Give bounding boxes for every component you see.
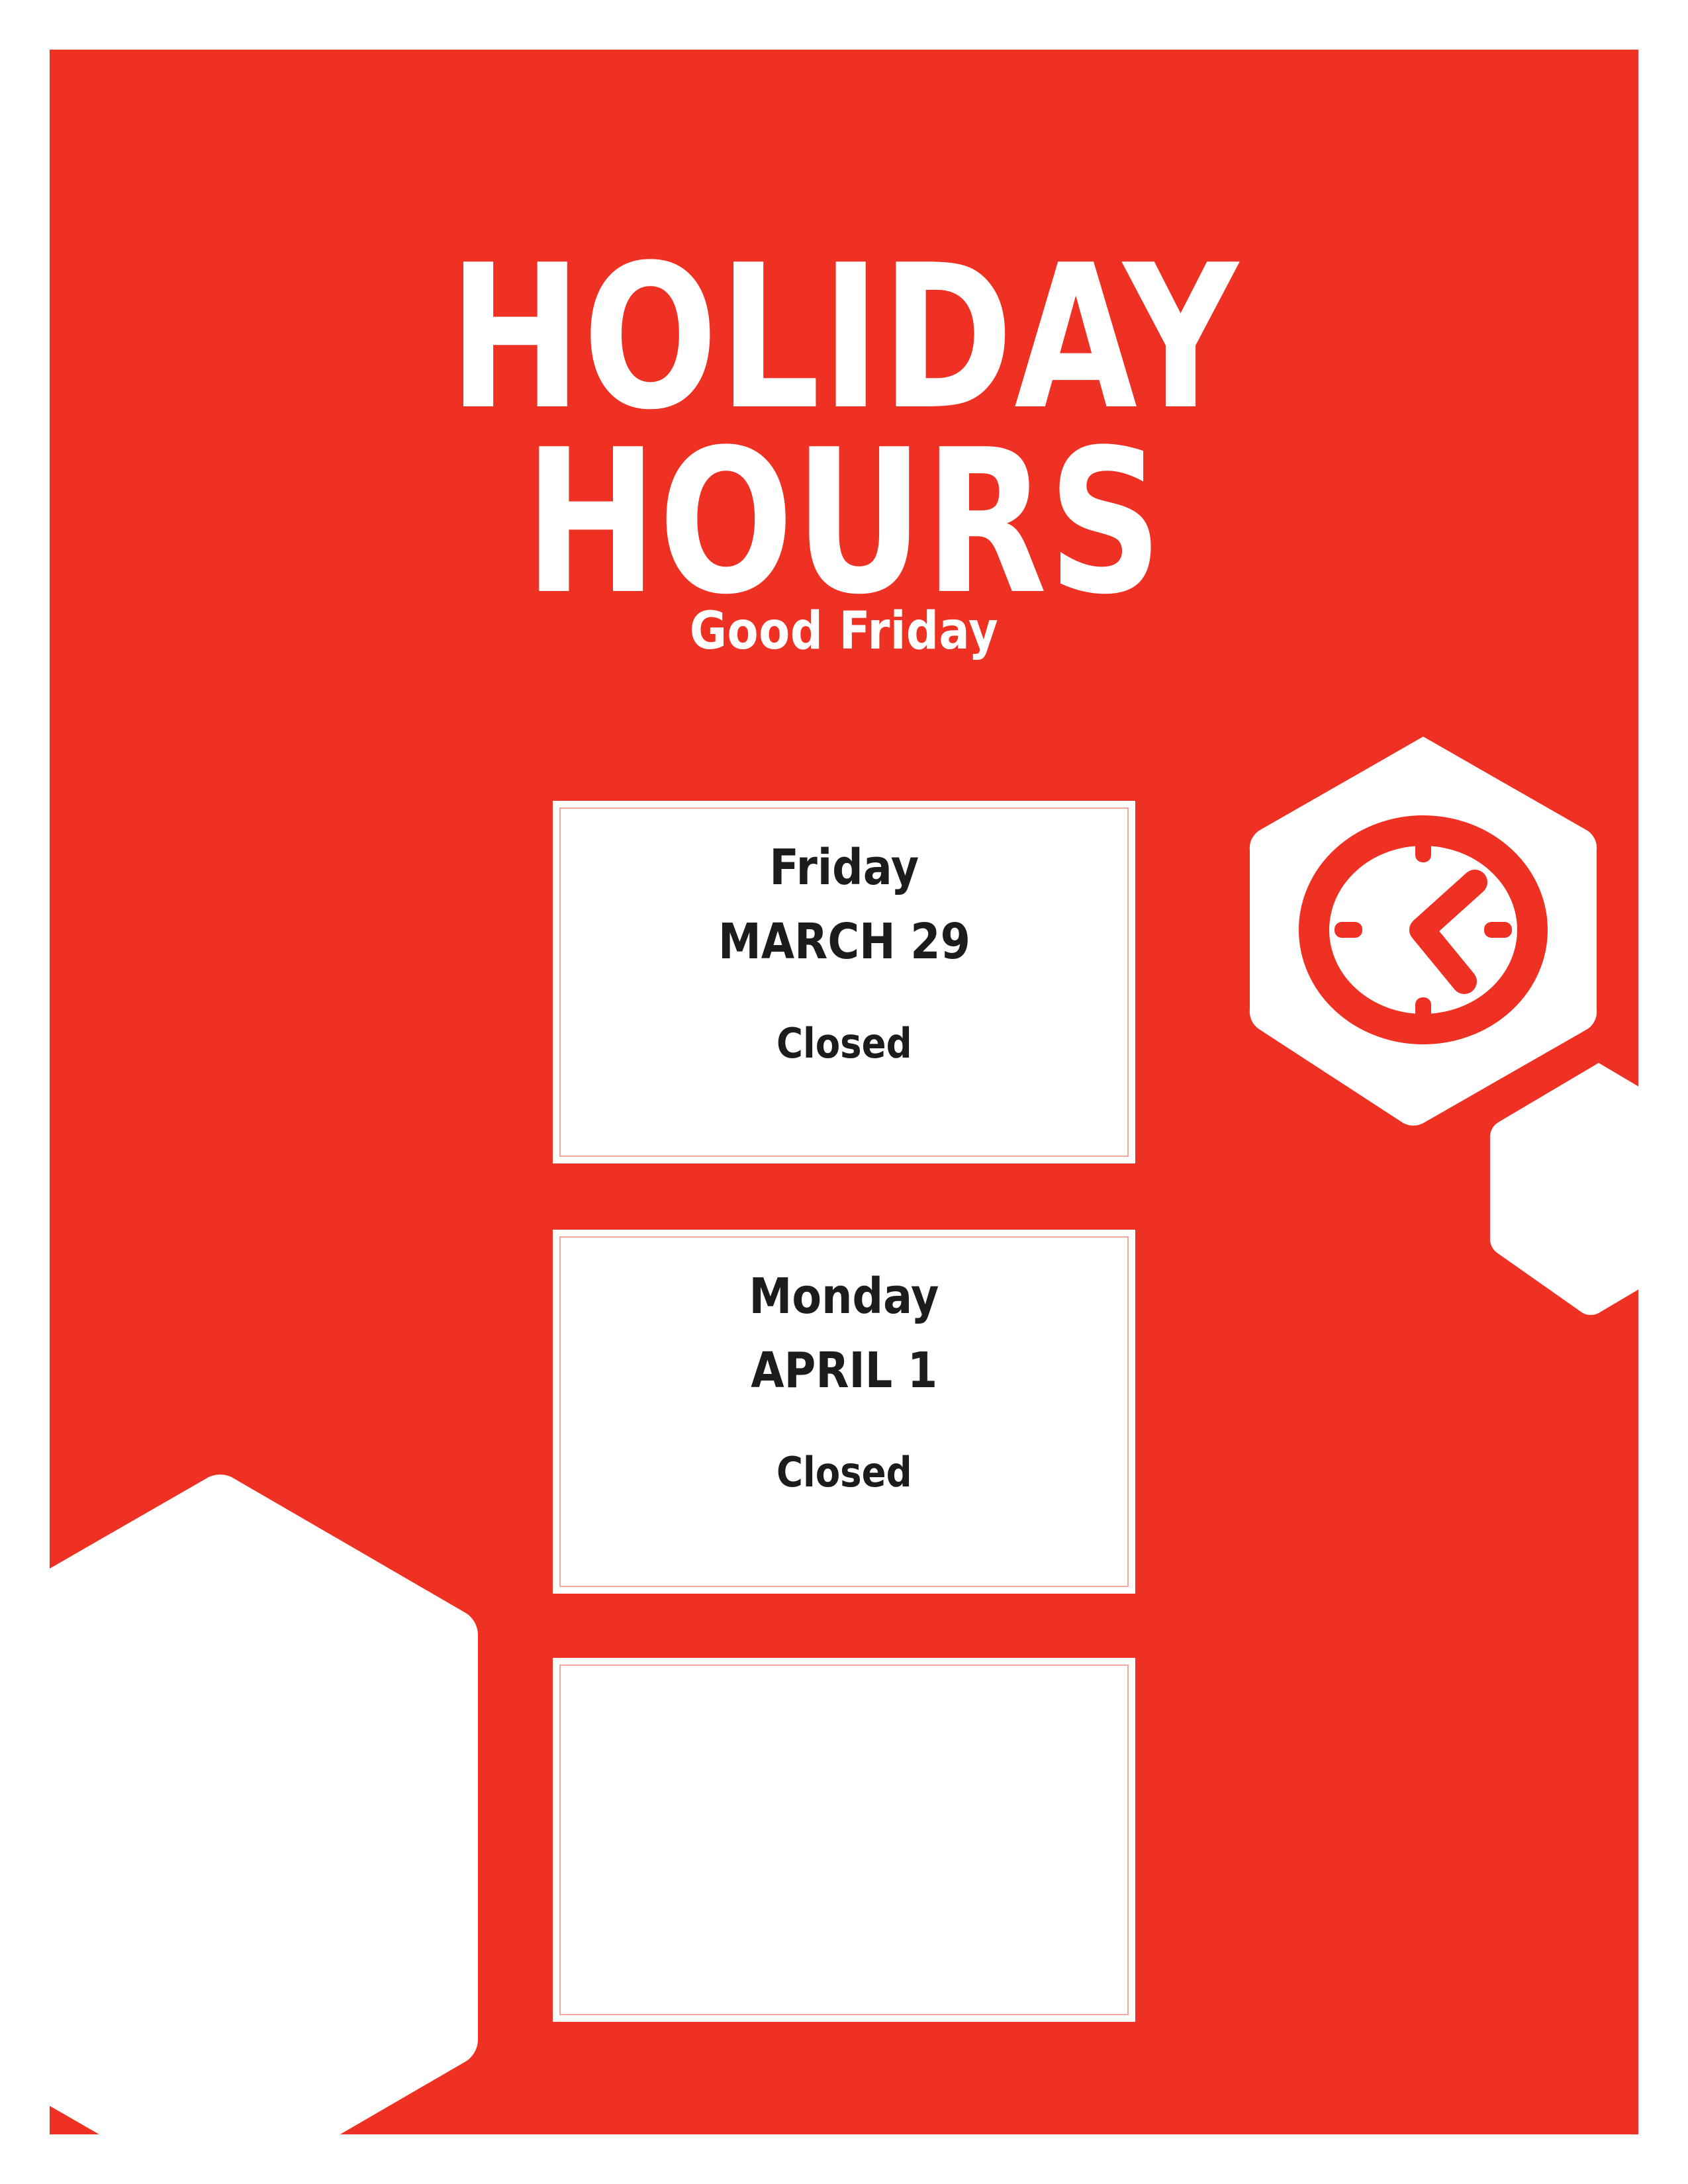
schedule-card-empty — [553, 1658, 1135, 2022]
schedule-card-status: Closed — [776, 1023, 912, 1064]
schedule-card: Friday MARCH 29 Closed — [553, 801, 1135, 1163]
schedule-card-status: Closed — [776, 1452, 912, 1493]
schedule-card-date: MARCH 29 — [718, 917, 970, 966]
page-title-line-2: HOURS — [209, 430, 1479, 615]
schedule-card-date: APRIL 1 — [751, 1346, 937, 1395]
schedule-card-inner: Monday APRIL 1 Closed — [559, 1236, 1129, 1587]
page-title: HOLIDAY HOURS — [209, 246, 1479, 615]
schedule-card-inner: Friday MARCH 29 Closed — [559, 807, 1129, 1157]
page-subtitle: Good Friday — [145, 606, 1543, 657]
schedule-card: Monday APRIL 1 Closed — [553, 1230, 1135, 1594]
schedule-card-day: Monday — [749, 1272, 939, 1321]
schedule-card-inner — [559, 1664, 1129, 2015]
holiday-hours-poster: HOLIDAY HOURS Good Friday Friday MARCH 2… — [0, 0, 1688, 2184]
schedule-card-day: Friday — [769, 843, 919, 892]
page-title-line-1: HOLIDAY — [209, 246, 1479, 430]
